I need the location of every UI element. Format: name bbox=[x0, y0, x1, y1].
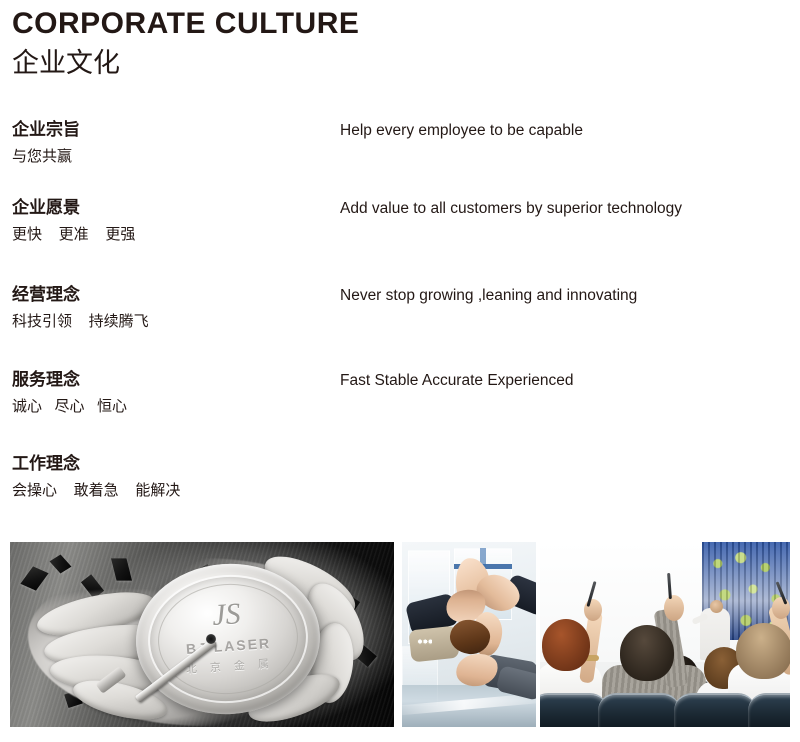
photo-seminar-audience-raising-hands bbox=[540, 542, 790, 727]
value-sub-vision: 更快 更准 更强 bbox=[12, 223, 332, 247]
value-english-service: Fast Stable Accurate Experienced bbox=[340, 370, 790, 392]
seminar-chair bbox=[674, 693, 756, 727]
page-header: CORPORATE CULTURE 企业文化 bbox=[12, 6, 359, 80]
value-sub-service: 诚心 尽心 恒心 bbox=[12, 395, 332, 419]
engraving-scene: JS BJ LASER 北 京 金 属 bbox=[10, 542, 394, 727]
teamwork-scene bbox=[402, 542, 536, 727]
value-row-management: 经营理念 科技引领 持续腾飞 Never stop growing ,leani… bbox=[0, 283, 800, 368]
cuff-buttons bbox=[416, 638, 432, 645]
value-left-vision: 企业愿景 更快 更准 更强 bbox=[12, 196, 332, 247]
audience-head bbox=[736, 623, 790, 679]
seminar-chair bbox=[598, 693, 680, 727]
corporate-values-list: 企业宗旨 与您共赢 Help every employee to be capa… bbox=[0, 118, 800, 512]
value-row-vision: 企业愿景 更快 更准 更强 Add value to all customers… bbox=[0, 196, 800, 283]
raised-hand bbox=[664, 595, 684, 621]
value-heading-management: 经营理念 bbox=[12, 283, 332, 307]
value-heading-purpose: 企业宗旨 bbox=[12, 118, 332, 142]
value-english-purpose: Help every employee to be capable bbox=[340, 120, 790, 142]
photo-strip: JS BJ LASER 北 京 金 属 bbox=[0, 542, 800, 728]
value-left-purpose: 企业宗旨 与您共赢 bbox=[12, 118, 332, 169]
value-sub-management: 科技引领 持续腾飞 bbox=[12, 310, 332, 334]
value-english-vision: Add value to all customers by superior t… bbox=[340, 198, 790, 220]
photo-teamwork-stacked-fists bbox=[402, 542, 536, 727]
value-row-work: 工作理念 会操心 敢着急 能解决 bbox=[0, 452, 800, 512]
value-sub-work: 会操心 敢着急 能解决 bbox=[12, 479, 332, 503]
stylus-tip bbox=[206, 634, 216, 644]
audience-head bbox=[620, 625, 674, 681]
seminar-scene bbox=[540, 542, 790, 727]
raised-hand bbox=[772, 597, 790, 619]
seminar-chair bbox=[748, 693, 790, 727]
presenter-head bbox=[710, 600, 723, 613]
photo-laser-engraving-metal-disc: JS BJ LASER 北 京 金 属 bbox=[10, 542, 394, 727]
value-english-management: Never stop growing ,leaning and innovati… bbox=[340, 285, 790, 307]
value-left-management: 经营理念 科技引领 持续腾飞 bbox=[12, 283, 332, 334]
value-heading-service: 服务理念 bbox=[12, 368, 332, 392]
audience-head bbox=[542, 619, 590, 671]
value-sub-purpose: 与您共赢 bbox=[12, 145, 332, 169]
value-left-work: 工作理念 会操心 敢着急 能解决 bbox=[12, 452, 332, 503]
page-title-english: CORPORATE CULTURE bbox=[12, 6, 359, 42]
value-heading-vision: 企业愿景 bbox=[12, 196, 332, 220]
value-row-purpose: 企业宗旨 与您共赢 Help every employee to be capa… bbox=[0, 118, 800, 196]
page-title-chinese: 企业文化 bbox=[12, 46, 359, 80]
value-left-service: 服务理念 诚心 尽心 恒心 bbox=[12, 368, 332, 419]
value-heading-work: 工作理念 bbox=[12, 452, 332, 476]
value-row-service: 服务理念 诚心 尽心 恒心 Fast Stable Accurate Exper… bbox=[0, 368, 800, 452]
